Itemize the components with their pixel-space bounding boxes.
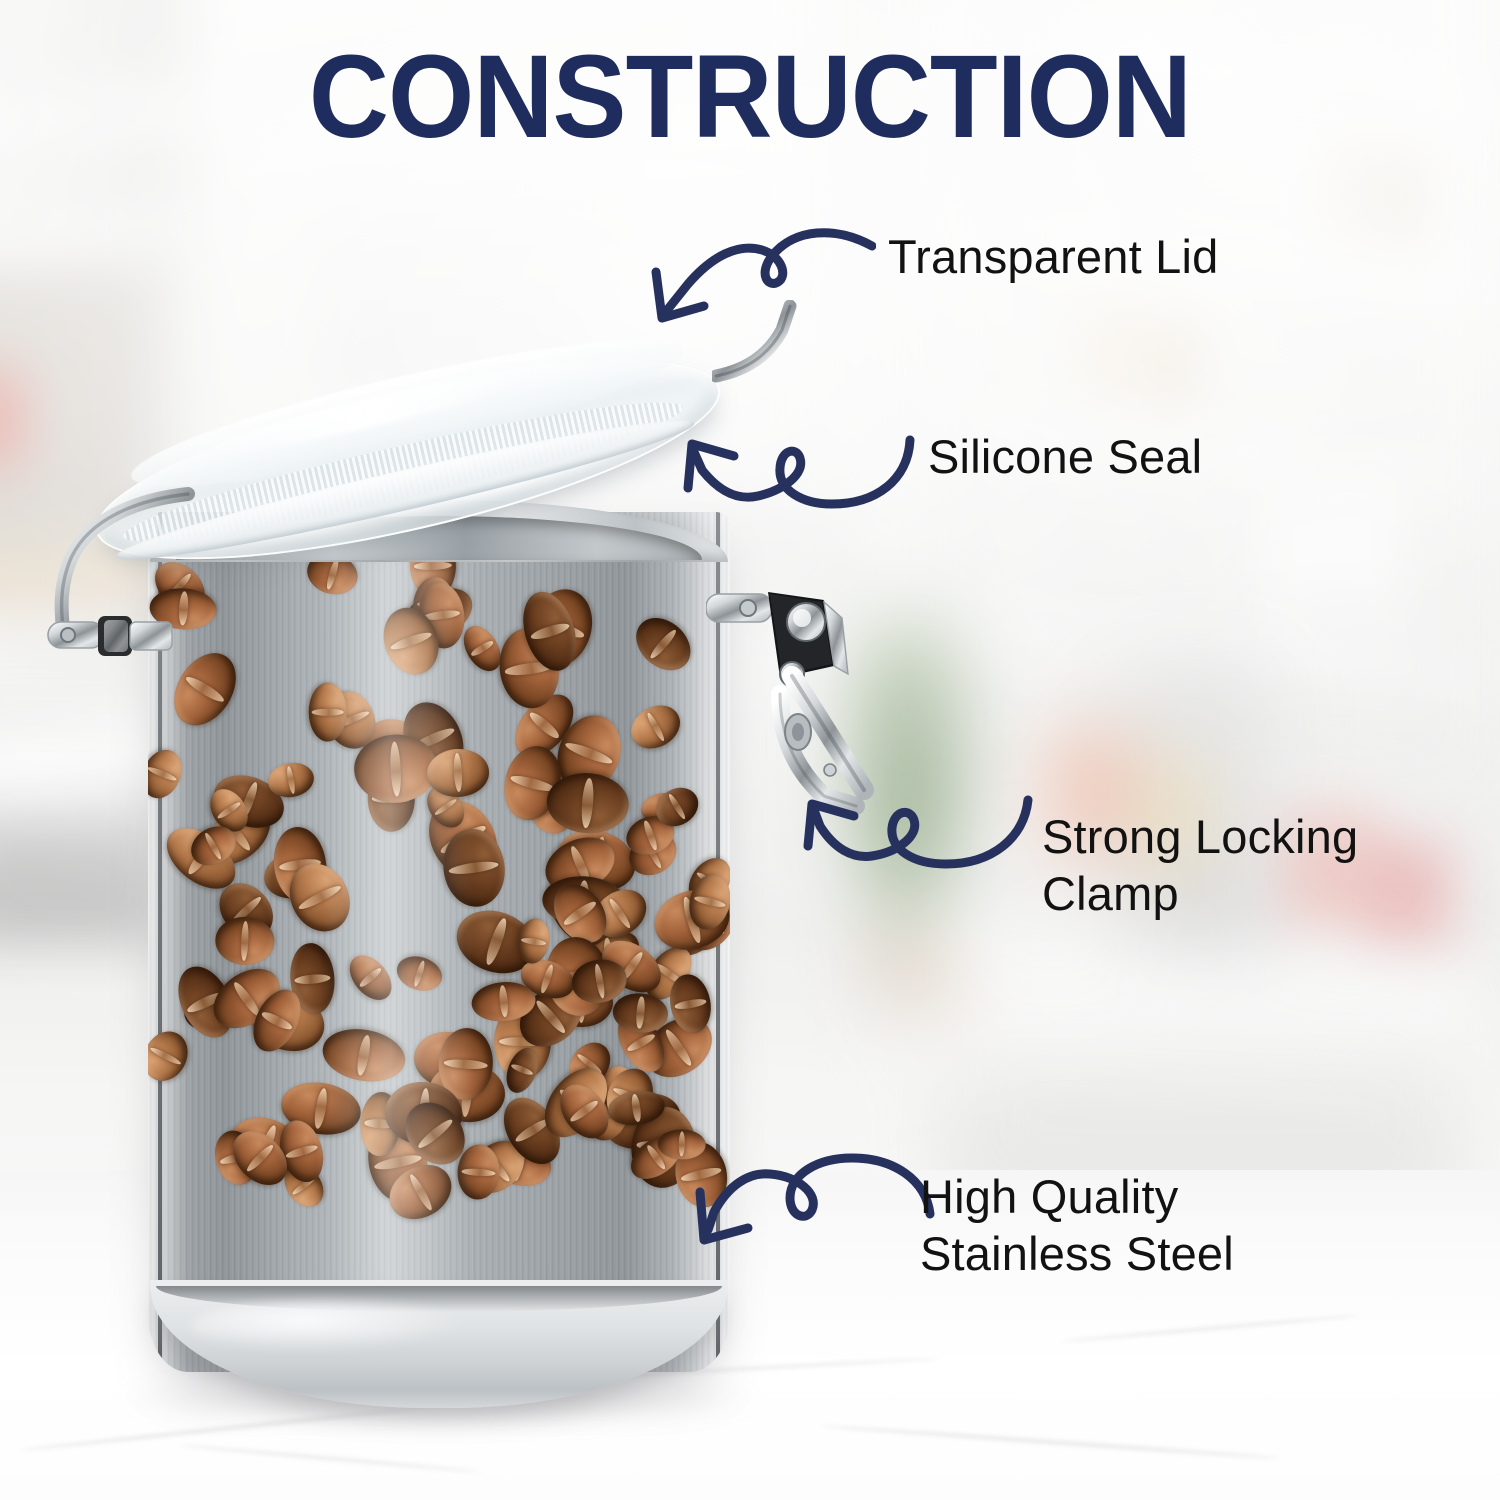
base-highlight [190,1300,470,1352]
page-title: CONSTRUCTION [45,38,1455,156]
curly-arrow-stainless-steel [690,1148,935,1260]
coffee-bean [361,1117,434,1208]
coffee-bean [410,1099,465,1158]
coffee-bean [318,1022,409,1087]
coffee-bean [214,916,275,967]
coffee-bean [416,580,468,651]
callout-label-transparent-lid: Transparent Lid [888,228,1218,285]
coffee-bean [410,575,456,636]
callout-label-strong-locking-clamp: Strong Locking Clamp [1042,808,1358,923]
coffee-bean [359,1090,402,1156]
coffee-bean [392,951,446,997]
coffee-bean [148,743,188,803]
coffee-bean [383,1079,465,1148]
coffee-bean [426,747,491,798]
coffee-bean [341,948,399,1008]
coffee-bean [394,1091,477,1176]
coffee-bean [349,705,451,807]
coffee-bean [375,600,447,681]
callout-label-high-quality-stainless-steel: High Quality Stainless Steel [920,1168,1234,1283]
coffee-bean [148,1023,196,1088]
coffee-bean [439,825,510,910]
curly-arrow-silicone-seal [672,418,922,528]
curly-arrow-locking-clamp [796,782,1036,892]
falling-coffee-beans [148,512,730,1372]
coffee-bean [368,765,415,832]
coffee-bean [427,1060,508,1126]
stainless-steel-body [148,512,730,1372]
coffee-bean [380,1154,461,1230]
coffee-bean [624,697,688,756]
callout-label-silicone-seal: Silicone Seal [928,428,1202,485]
hinge-bracket-icon [46,610,176,662]
coffee-bean [392,692,475,785]
coffee-bean [318,683,385,756]
coffee-bean [352,733,438,805]
coffee-bean [626,608,701,681]
curly-arrow-transparent-lid [626,222,876,332]
coffee-bean [395,578,480,651]
coffee-bean [309,682,347,741]
coffee-bean [419,779,471,834]
